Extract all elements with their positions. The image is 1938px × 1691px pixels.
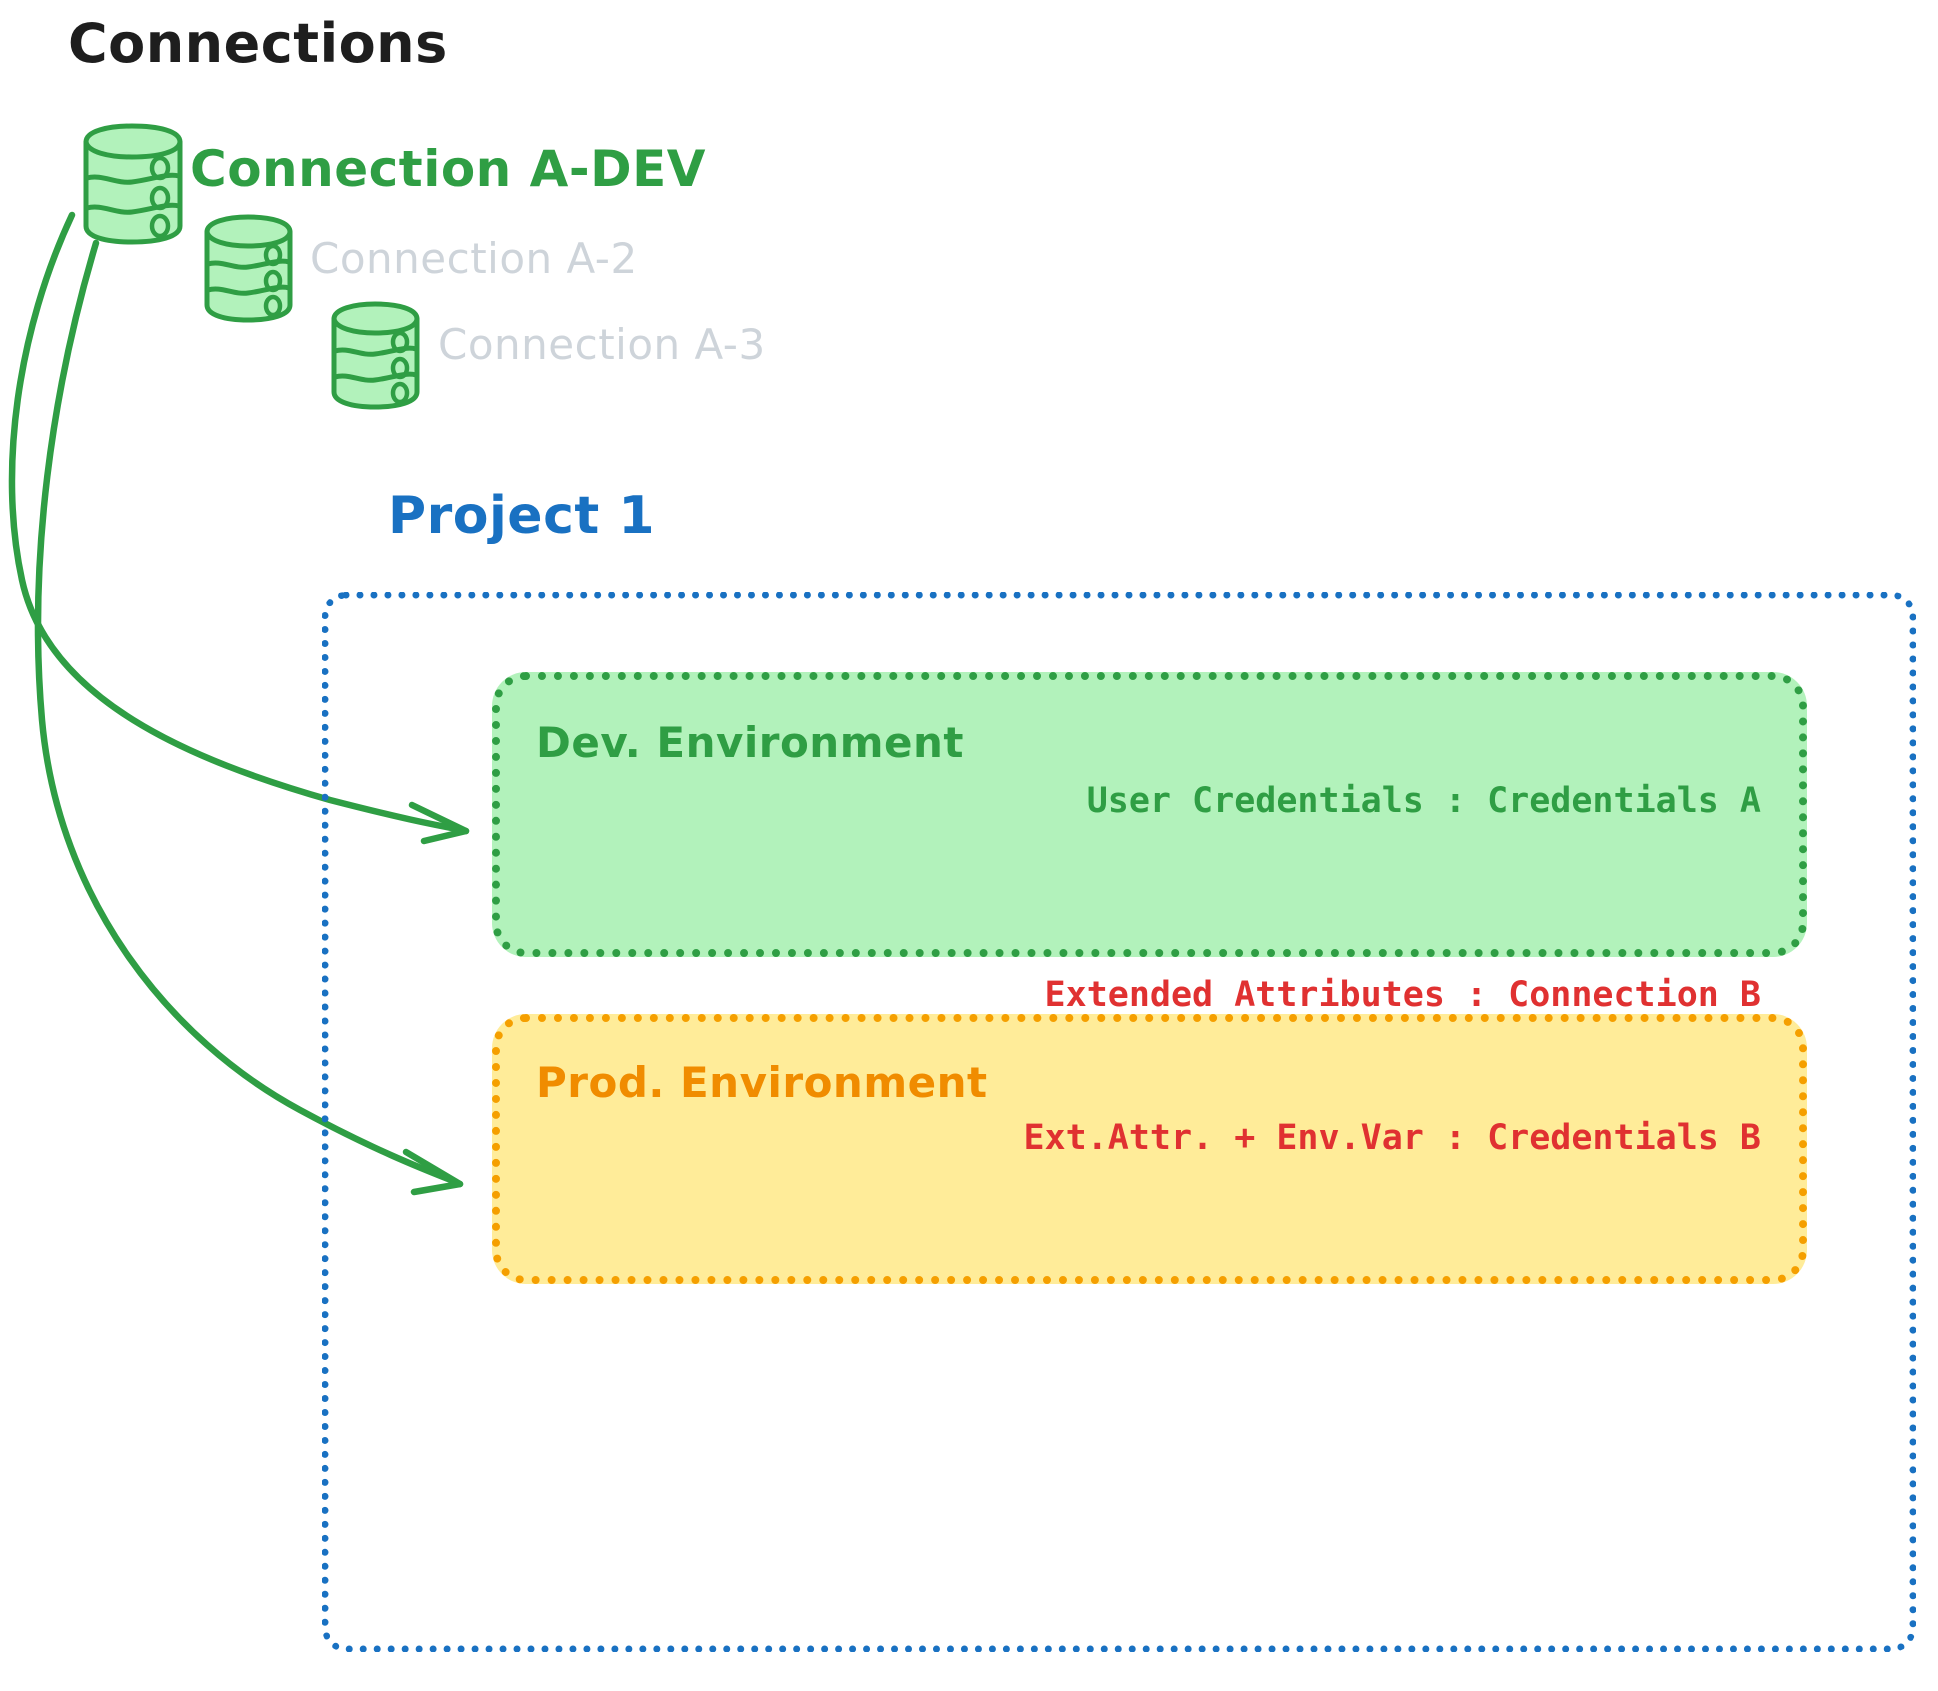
- prod-detail-line: Extended Attributes : Connection B: [1023, 972, 1761, 1020]
- database-icon: [72, 118, 192, 248]
- prod-detail-line: Ext.Attr. + Env.Var : Credentials B: [1023, 1115, 1761, 1163]
- dev-environment-title: Dev. Environment: [536, 718, 964, 767]
- prod-environment-box: Prod. Environment Extended Attributes : …: [492, 1014, 1807, 1284]
- connection-label-a-3: Connection A-3: [438, 320, 766, 369]
- prod-environment-title: Prod. Environment: [536, 1058, 988, 1107]
- diagram-canvas: Connections Connection A-DEV Connection …: [0, 0, 1938, 1691]
- dev-detail-line: User Credentials : Credentials A: [1087, 778, 1761, 826]
- project-label: Project 1: [388, 486, 655, 546]
- connection-label-a-2: Connection A-2: [310, 234, 638, 283]
- database-icon: [322, 297, 427, 412]
- connection-label-a-dev: Connection A-DEV: [190, 140, 706, 198]
- page-title: Connections: [68, 12, 448, 75]
- prod-environment-details: Extended Attributes : Connection B Ext.A…: [1023, 877, 1761, 1258]
- database-icon: [195, 210, 300, 325]
